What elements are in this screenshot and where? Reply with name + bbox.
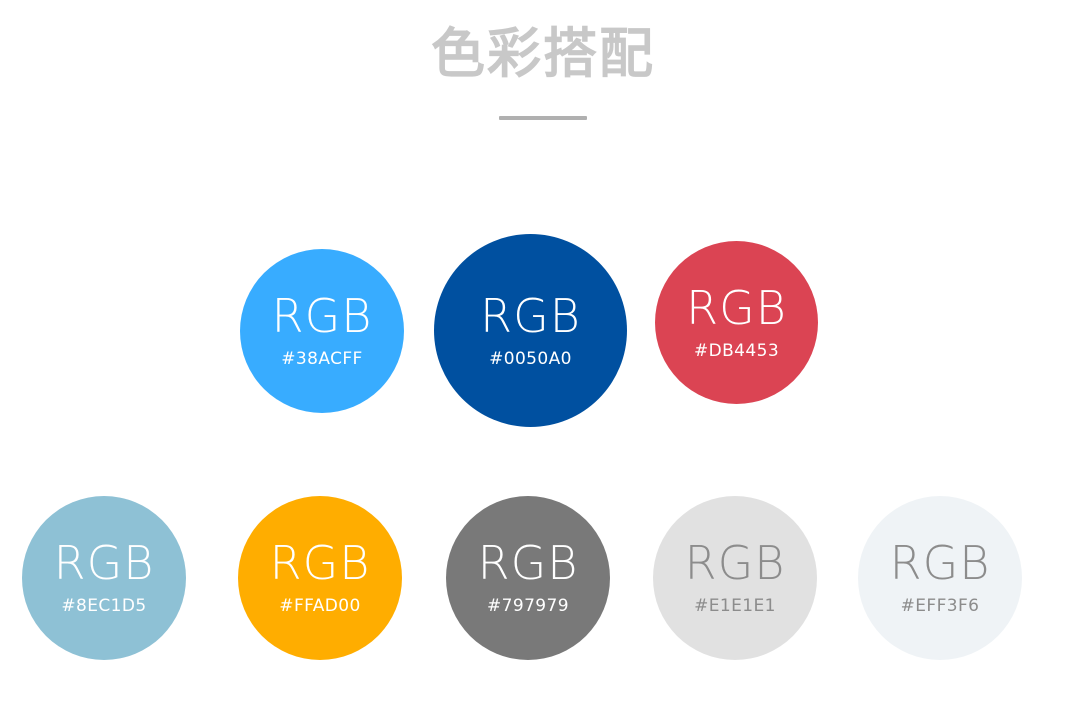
color-swatch-0050a0[interactable]: RGB #0050A0 xyxy=(434,234,627,427)
color-swatch-797979[interactable]: RGB #797979 xyxy=(446,496,610,660)
color-swatch-eff3f6[interactable]: RGB #EFF3F6 xyxy=(858,496,1022,660)
swatch-hex-value: #0050A0 xyxy=(489,349,572,369)
swatch-rgb-label: RGB xyxy=(480,293,581,339)
color-swatch-e1e1e1[interactable]: RGB #E1E1E1 xyxy=(653,496,817,660)
swatch-rgb-label: RGB xyxy=(54,540,155,586)
swatch-rgb-label: RGB xyxy=(686,285,787,331)
color-swatch-ffad00[interactable]: RGB #FFAD00 xyxy=(238,496,402,660)
page-header: 色彩搭配 xyxy=(0,0,1086,120)
page-title: 色彩搭配 xyxy=(0,0,1086,88)
swatch-rgb-label: RGB xyxy=(478,540,579,586)
swatch-rgb-label: RGB xyxy=(272,293,373,339)
color-palette-page: 色彩搭配 RGB #38ACFF RGB #0050A0 RGB #DB4453… xyxy=(0,0,1086,723)
swatch-hex-value: #DB4453 xyxy=(694,341,779,361)
swatch-hex-value: #38ACFF xyxy=(281,349,362,369)
color-swatch-db4453[interactable]: RGB #DB4453 xyxy=(655,241,818,404)
swatch-rgb-label: RGB xyxy=(890,540,991,586)
swatch-rgb-label: RGB xyxy=(270,540,371,586)
color-swatch-8ec1d5[interactable]: RGB #8EC1D5 xyxy=(22,496,186,660)
swatch-hex-value: #EFF3F6 xyxy=(901,596,980,616)
swatch-hex-value: #8EC1D5 xyxy=(61,596,146,616)
title-divider xyxy=(499,116,587,120)
swatch-hex-value: #E1E1E1 xyxy=(694,596,776,616)
color-swatch-38acff[interactable]: RGB #38ACFF xyxy=(240,249,404,413)
swatch-hex-value: #797979 xyxy=(487,596,569,616)
swatch-rgb-label: RGB xyxy=(685,540,786,586)
swatch-hex-value: #FFAD00 xyxy=(279,596,360,616)
